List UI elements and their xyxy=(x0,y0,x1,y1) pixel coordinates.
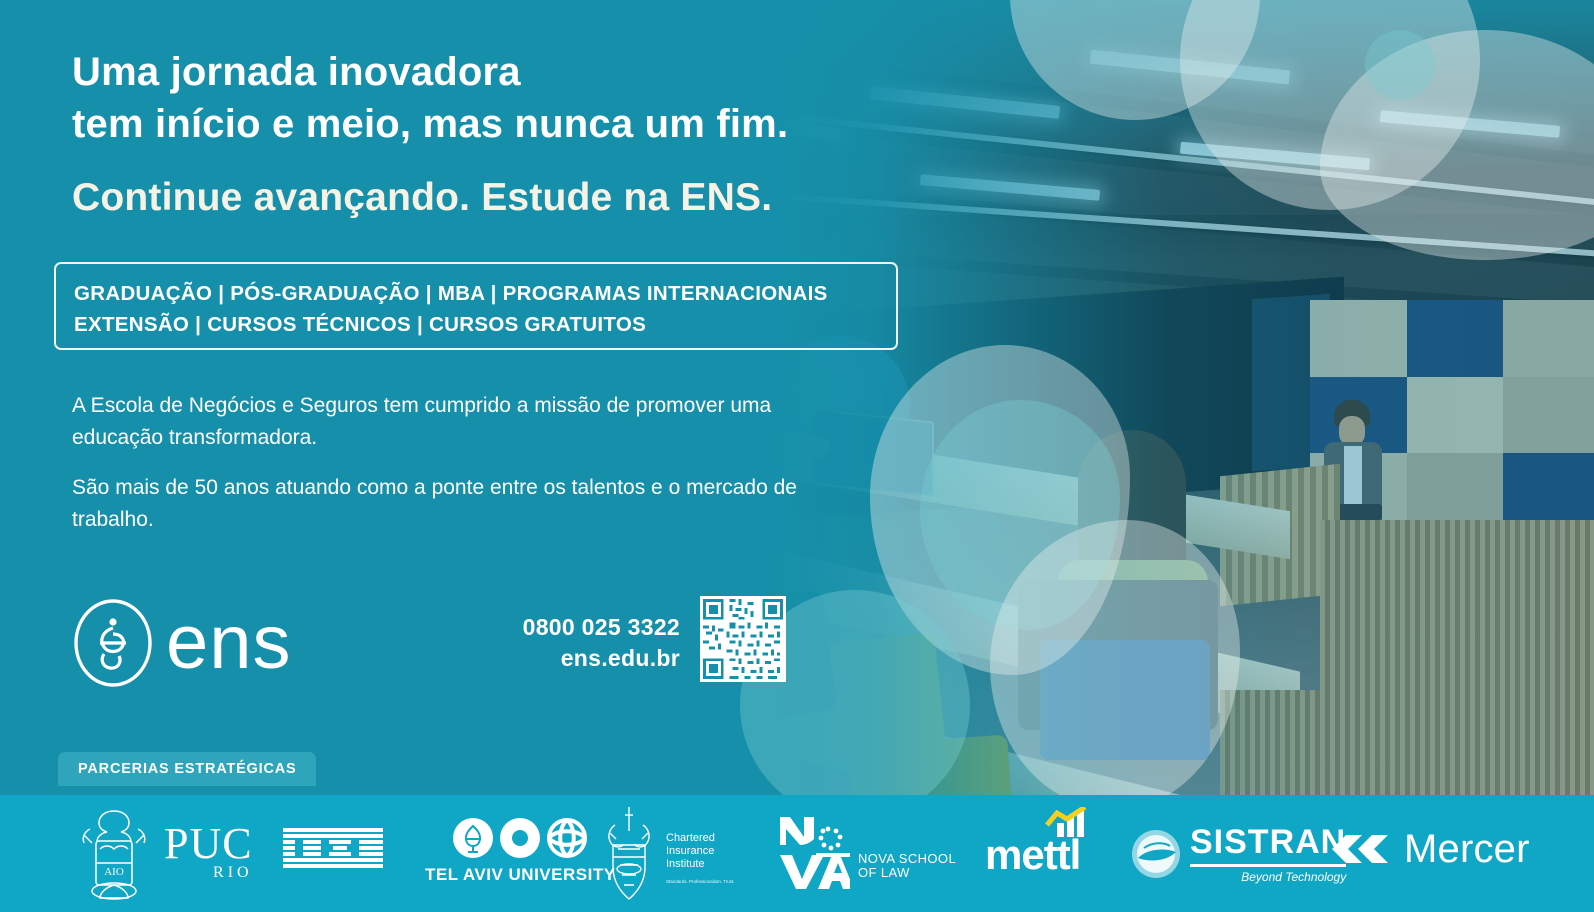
partners-strip: AIO PUC RIO xyxy=(0,795,1594,912)
qr-code-icon[interactable] xyxy=(700,596,786,682)
sistran-globe-icon xyxy=(1130,828,1182,880)
partner-sub: OF LAW xyxy=(858,866,956,880)
partner-name: Mercer xyxy=(1404,827,1530,872)
ibm-logo-icon xyxy=(283,828,383,870)
ens-circle-emblem-icon xyxy=(70,598,156,688)
headline-bold: Continue avançando. Estude na ENS. xyxy=(72,175,972,221)
website-url[interactable]: ens.edu.br xyxy=(485,643,680,674)
partner-name: mettl xyxy=(985,831,1080,879)
partner-mettl[interactable]: mettl xyxy=(985,819,1080,879)
partner-name: SISTRAN xyxy=(1190,823,1346,867)
cii-crest-icon xyxy=(600,803,658,903)
partner-tel-aviv-university[interactable]: TEL AVIV UNIVERSITY xyxy=(425,817,616,885)
partner-ibm[interactable] xyxy=(283,828,383,870)
headline-line-2: tem início e meio, mas nunca um fim. xyxy=(72,102,788,146)
courses-line-2: EXTENSÃO | CURSOS TÉCNICOS | CURSOS GRAT… xyxy=(74,313,646,336)
mettl-chart-icon xyxy=(1043,807,1089,837)
puc-rio-crest-icon: AIO xyxy=(70,805,158,901)
partner-puc-rio[interactable]: AIO PUC RIO xyxy=(70,805,253,901)
courses-line-1: GRADUAÇÃO | PÓS-GRADUAÇÃO | MBA | PROGRA… xyxy=(74,282,828,305)
courses-box: GRADUAÇÃO | PÓS-GRADUAÇÃO | MBA | PROGRA… xyxy=(54,262,898,350)
partners-label: PARCERIAS ESTRATÉGICAS xyxy=(78,761,296,777)
nova-logo-icon xyxy=(778,815,850,891)
body-paragraph-1: A Escola de Negócios e Seguros tem cumpr… xyxy=(72,390,812,454)
svg-text:AIO: AIO xyxy=(104,866,124,878)
contact-block: 0800 025 3322 ens.edu.br xyxy=(485,612,680,674)
partner-nova-school-of-law[interactable]: NOVA SCHOOL OF LAW xyxy=(778,815,956,891)
partners-tab: PARCERIAS ESTRATÉGICAS xyxy=(58,752,316,786)
ens-advertisement: Uma jornada inovadora tem início e meio,… xyxy=(0,0,1594,912)
partner-name: NOVA SCHOOL xyxy=(858,852,956,866)
partner-sistran[interactable]: SISTRAN Beyond Technology xyxy=(1130,823,1346,884)
partner-name: PUC xyxy=(164,824,253,864)
tel-aviv-circles-icon xyxy=(452,817,588,859)
partner-sub: Standards. Professionalism. Trust. xyxy=(666,875,736,888)
headline: Uma jornada inovadora tem início e meio,… xyxy=(72,46,892,150)
headline-line-1: Uma jornada inovadora xyxy=(72,50,521,94)
partner-chartered-insurance-institute[interactable]: Chartered Insurance Institute Standards.… xyxy=(600,803,736,903)
decorative-blob xyxy=(1365,30,1435,100)
body-paragraph-2: São mais de 50 anos atuando como a ponte… xyxy=(72,472,812,536)
partner-mercer[interactable]: Mercer xyxy=(1330,827,1530,872)
partner-name: TEL AVIV UNIVERSITY xyxy=(425,865,616,885)
partner-sub: Beyond Technology xyxy=(1241,870,1346,884)
phone-number: 0800 025 3322 xyxy=(485,612,680,643)
mercer-mark-icon xyxy=(1330,829,1392,871)
ens-wordmark: ens xyxy=(166,600,292,686)
partner-name: Chartered Insurance Institute xyxy=(666,832,736,871)
partner-sub: RIO xyxy=(213,864,253,882)
